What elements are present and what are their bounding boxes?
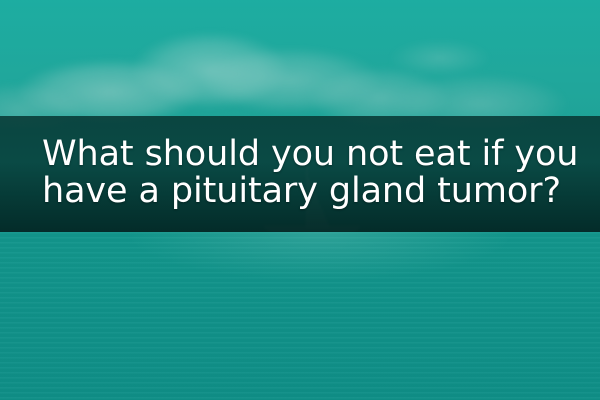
sea-sheen (0, 232, 600, 322)
screenshot-root: What should you not eat if you have a pi… (0, 0, 600, 400)
cloud-bank (0, 18, 600, 128)
caption-band: What should you not eat if you have a pi… (0, 116, 600, 232)
caption-heading: What should you not eat if you have a pi… (0, 136, 598, 210)
